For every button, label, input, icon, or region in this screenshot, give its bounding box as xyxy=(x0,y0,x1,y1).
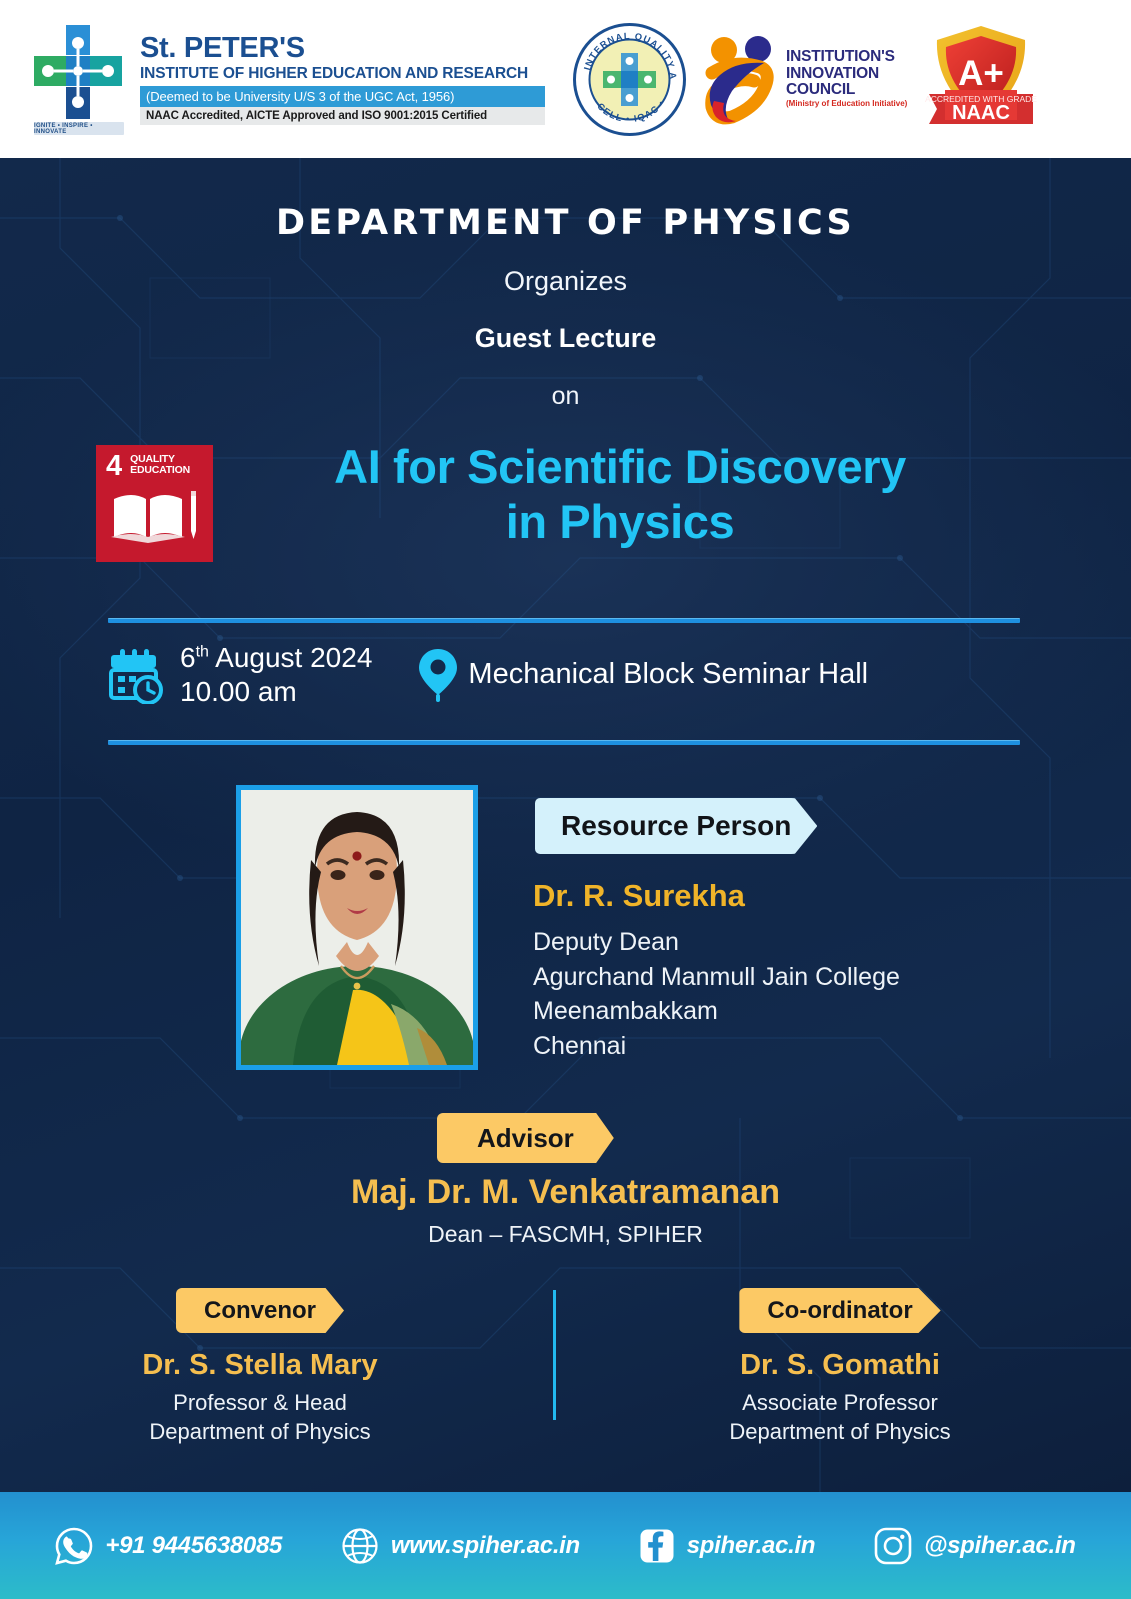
rp-detail-1: Deputy Dean xyxy=(533,925,900,960)
whatsapp-icon xyxy=(55,1527,93,1565)
rp-detail-2: Agurchand Manmull Jain College xyxy=(533,960,900,995)
coordinator-block: Co-ordinator Dr. S. Gomathi Associate Pr… xyxy=(600,1288,1080,1446)
poster-header: IGNITE • INSPIRE • INNOVATE St. PETER'S … xyxy=(0,0,1131,158)
header-logos: INTERNAL QUALITY ASSURANCE CELL • IQAC • xyxy=(573,20,1039,138)
poster-footer: +91 9445638085 www.spiher.ac.in spiher.a… xyxy=(0,1492,1131,1599)
iic-logo: INSTITUTION'S INNOVATION COUNCIL (Minist… xyxy=(702,33,907,125)
iqac-seal-icon: INTERNAL QUALITY ASSURANCE CELL • IQAC • xyxy=(573,23,686,136)
footer-instagram-item[interactable]: @spiher.ac.in xyxy=(874,1527,1076,1565)
rp-detail-3: Meenambakkam xyxy=(533,994,900,1029)
advisor-badge: Advisor xyxy=(437,1113,614,1163)
deemed-university-line: (Deemed to be University U/S 3 of the UG… xyxy=(140,86,545,107)
time-line: 10.00 am xyxy=(180,675,372,709)
divider-bottom xyxy=(108,740,1020,745)
iic-line-1: INSTITUTION'S xyxy=(786,49,907,65)
coordinator-title: Associate Professor xyxy=(600,1388,1080,1417)
department-title: DEPARTMENT OF PHYSICS xyxy=(0,203,1131,243)
iic-figure-icon xyxy=(702,33,780,125)
calendar-clock-icon xyxy=(108,646,164,704)
facebook-icon xyxy=(639,1528,675,1564)
convenor-dept: Department of Physics xyxy=(20,1417,500,1446)
venue-text: Mechanical Block Seminar Hall xyxy=(468,658,868,691)
coordinator-name: Dr. S. Gomathi xyxy=(600,1349,1080,1382)
divider-top xyxy=(108,618,1020,623)
st-peters-cross-icon: IGNITE • INSPIRE • INNOVATE xyxy=(30,23,126,135)
coordinator-dept: Department of Physics xyxy=(600,1417,1080,1446)
footer-website-item[interactable]: www.spiher.ac.in xyxy=(341,1527,580,1565)
footer-facebook-item[interactable]: spiher.ac.in xyxy=(639,1528,815,1564)
iic-line-3: COUNCIL xyxy=(786,82,907,98)
event-type-label: Guest Lecture xyxy=(0,323,1131,354)
date-month-year: August 2024 xyxy=(209,642,372,673)
institution-logo-block: IGNITE • INSPIRE • INNOVATE St. PETER'S … xyxy=(30,23,545,135)
sdg-number: 4 xyxy=(106,454,122,479)
instagram-icon xyxy=(874,1527,912,1565)
footer-facebook-text: spiher.ac.in xyxy=(687,1532,815,1560)
footer-instagram-text: @spiher.ac.in xyxy=(924,1532,1076,1560)
resource-person-details: Deputy Dean Agurchand Manmull Jain Colle… xyxy=(533,925,900,1063)
accreditation-line: NAAC Accredited, AICTE Approved and ISO … xyxy=(140,107,545,125)
iic-text-block: INSTITUTION'S INNOVATION COUNCIL (Minist… xyxy=(786,49,907,108)
advisor-name: Maj. Dr. M. Venkatramanan xyxy=(0,1173,1131,1212)
institution-name: St. PETER'S xyxy=(140,33,545,63)
convenor-name: Dr. S. Stella Mary xyxy=(20,1349,500,1382)
svg-text:NAAC: NAAC xyxy=(952,102,1010,124)
resource-person-name: Dr. R. Surekha xyxy=(533,878,745,914)
resource-person-photo xyxy=(236,785,478,1070)
date-day-suffix: th xyxy=(196,644,209,661)
footer-phone-item[interactable]: +91 9445638085 xyxy=(55,1527,282,1565)
footer-website-text: www.spiher.ac.in xyxy=(391,1532,580,1560)
on-label: on xyxy=(0,382,1131,411)
lecture-title-line1: AI for Scientific Discovery xyxy=(225,440,1015,495)
svg-text:A+: A+ xyxy=(958,54,1004,93)
globe-icon xyxy=(341,1527,379,1565)
sdg-label-line2: EDUCATION xyxy=(130,465,190,476)
lecture-title: AI for Scientific Discovery in Physics xyxy=(225,440,1015,549)
event-poster: IGNITE • INSPIRE • INNOVATE St. PETER'S … xyxy=(0,0,1131,1599)
convenor-badge: Convenor xyxy=(176,1288,344,1333)
convenor-title: Professor & Head xyxy=(20,1388,500,1417)
logo-tagline: IGNITE • INSPIRE • INNOVATE xyxy=(34,122,124,135)
iic-line-2: INNOVATION xyxy=(786,66,907,82)
coordinator-badge: Co-ordinator xyxy=(739,1288,940,1333)
advisor-designation: Dean – FASCMH, SPIHER xyxy=(0,1221,1131,1248)
speaker-portrait-image xyxy=(241,790,473,1065)
footer-phone-text: +91 9445638085 xyxy=(105,1532,282,1560)
sdg-book-pencil-icon xyxy=(106,485,203,547)
date-line: 6th August 2024 xyxy=(180,641,372,675)
location-pin-icon xyxy=(418,647,458,703)
rp-detail-4: Chennai xyxy=(533,1029,900,1064)
convenor-block: Convenor Dr. S. Stella Mary Professor & … xyxy=(20,1288,500,1446)
lecture-title-line2: in Physics xyxy=(225,495,1015,550)
poster-body: DEPARTMENT OF PHYSICS Organizes Guest Le… xyxy=(0,158,1131,1492)
date-time-text: 6th August 2024 10.00 am xyxy=(180,641,372,708)
institution-text: St. PETER'S INSTITUTE OF HIGHER EDUCATIO… xyxy=(140,33,545,124)
resource-person-badge: Resource Person xyxy=(535,798,817,854)
naac-grade-badge-icon: A+ ACCREDITED WITH GRADE NAAC xyxy=(923,20,1039,138)
institution-subtitle: INSTITUTE OF HIGHER EDUCATION AND RESEAR… xyxy=(140,65,545,83)
iic-ministry-line: (Ministry of Education Initiative) xyxy=(786,100,907,108)
organizes-label: Organizes xyxy=(0,266,1131,297)
column-divider xyxy=(553,1290,556,1420)
date-venue-row: 6th August 2024 10.00 am Mechanical Bloc… xyxy=(108,641,868,708)
date-day: 6 xyxy=(180,642,196,673)
sdg-goal-4-icon: 4 QUALITY EDUCATION xyxy=(96,445,213,562)
